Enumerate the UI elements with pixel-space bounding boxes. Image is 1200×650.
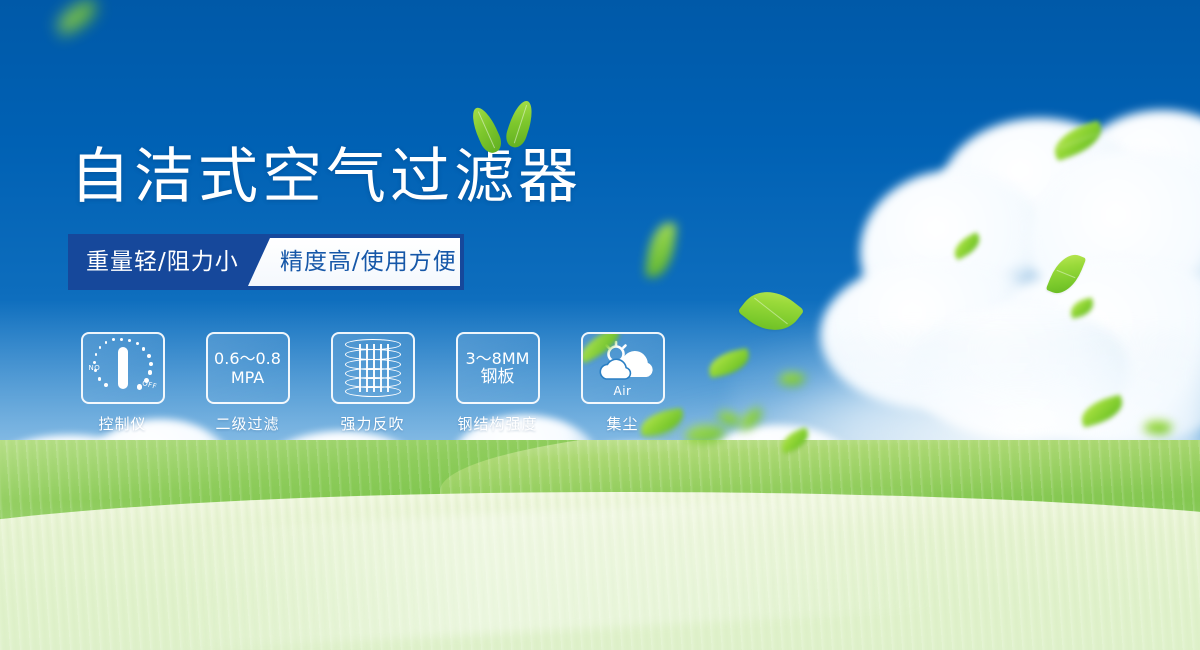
gauge-icon: NO OFF xyxy=(90,337,156,399)
banner-content: 自洁式空气过滤器 重量轻/阻力小 精度高/使用方便 xyxy=(0,0,1200,650)
filter-cartridge-icon xyxy=(345,339,401,397)
feature-label: 强力反吹 xyxy=(340,413,404,434)
feature-list: NO OFF 控制仪 0.6～0.8 MPA 二级过滤 xyxy=(68,332,677,434)
feature-item-backblow[interactable]: 强力反吹 xyxy=(318,332,427,434)
title-block: 自洁式空气过滤器 xyxy=(70,142,582,212)
feature-label: 控制仪 xyxy=(98,413,146,434)
feature-icon-box: 3～8MM 钢板 xyxy=(456,332,540,404)
air-caption: Air xyxy=(591,384,655,398)
pressure-value: 0.6～0.8 xyxy=(214,349,281,368)
feature-icon-box: 0.6～0.8 MPA xyxy=(206,332,290,404)
feature-label: 钢结构强度 xyxy=(457,413,537,434)
feature-icon-box: Air xyxy=(581,332,665,404)
feature-label: 二级过滤 xyxy=(215,413,279,434)
subtitle-right-text: 精度高/使用方便 xyxy=(280,234,457,290)
hero-banner: 自洁式空气过滤器 重量轻/阻力小 精度高/使用方便 xyxy=(0,0,1200,650)
pressure-text-icon: 0.6～0.8 MPA xyxy=(214,349,281,387)
feature-label: 集尘 xyxy=(606,413,638,434)
feature-icon-box xyxy=(331,332,415,404)
gauge-no-label: NO xyxy=(89,364,101,372)
gauge-off-label: OFF xyxy=(142,379,159,391)
steel-thickness: 3～8MM xyxy=(466,349,530,368)
subtitle-bar: 重量轻/阻力小 精度高/使用方便 xyxy=(68,234,464,290)
feature-item-secondary-filtration[interactable]: 0.6～0.8 MPA 二级过滤 xyxy=(193,332,302,434)
steel-material: 钢板 xyxy=(466,368,530,387)
subtitle-left-text: 重量轻/阻力小 xyxy=(86,234,239,290)
steel-text-icon: 3～8MM 钢板 xyxy=(466,349,530,387)
feature-item-steel-strength[interactable]: 3～8MM 钢板 钢结构强度 xyxy=(443,332,552,434)
pressure-unit: MPA xyxy=(214,368,281,387)
feature-item-controller[interactable]: NO OFF 控制仪 xyxy=(68,332,177,434)
feature-icon-box: NO OFF xyxy=(81,332,165,404)
sprout-leaves-icon xyxy=(470,94,550,156)
